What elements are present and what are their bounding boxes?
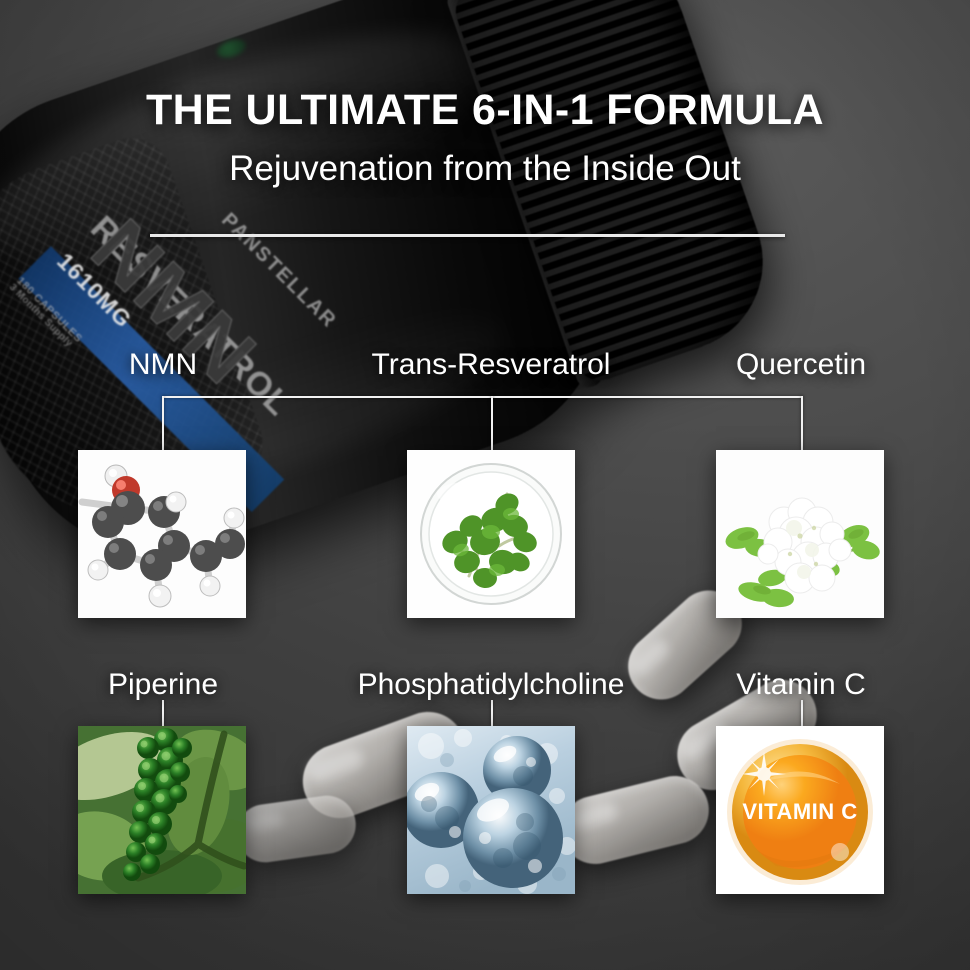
ingredient-label-quercetin: Quercetin [736,348,866,382]
ingredient-label-piperine: Piperine [108,668,218,702]
molecule-ball-and-stick-icon [78,450,246,618]
ingredient-image-piperine [78,726,246,894]
connector-vertical-phosphatidylcholine [491,700,493,726]
vitamin-c-orange-badge-icon: VITAMIN C [716,726,884,894]
ingredient-label-phosphatidylcholine: Phosphatidylcholine [358,668,625,702]
subheadline: Rejuvenation from the Inside Out [0,149,970,189]
product-infographic: RESVERATROL NMN 1610MG PANSTELLAR 180 CA… [0,0,970,970]
ingredient-label-vitamin-c: Vitamin C [736,668,866,702]
connector-horizontal-row1 [163,396,803,398]
ingredient-label-nmn: NMN [129,348,197,382]
ingredient-image-vitamin-c: VITAMIN C [716,726,884,894]
connector-vertical-quercetin [801,396,803,450]
connector-vertical-vitamin-c [801,700,803,726]
headline: THE ULTIMATE 6-IN-1 FORMULA [0,88,970,133]
header-block: THE ULTIMATE 6-IN-1 FORMULA Rejuvenation… [0,88,970,189]
connector-vertical-piperine [162,700,164,726]
ingredient-label-trans-resveratrol: Trans-Resveratrol [372,348,611,382]
connector-vertical-nmn [162,396,164,450]
white-sophora-flowers-icon [716,450,884,618]
ingredient-image-trans-resveratrol [407,450,575,618]
green-peppercorn-cluster-icon [78,726,246,894]
ingredient-image-quercetin [716,450,884,618]
vitamin-c-badge-text: VITAMIN C [742,799,857,824]
petri-dish-green-leaves-icon [407,450,575,618]
ingredient-image-nmn [78,450,246,618]
ingredient-image-phosphatidylcholine [407,726,575,894]
water-droplet-bubbles-icon [407,726,575,894]
connector-vertical-trans-resveratrol [491,396,493,450]
header-divider-rule [150,234,785,237]
